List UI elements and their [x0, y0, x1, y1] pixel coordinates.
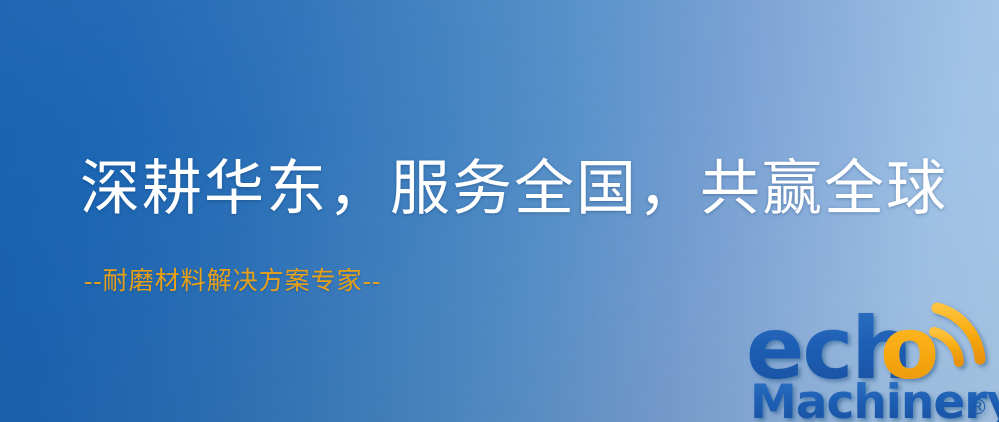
signal-waves-icon — [934, 308, 980, 362]
echo-machinery-logo[interactable]: ech o Machinery ® — [746, 292, 999, 422]
banner-subtitle: --耐磨材料解决方案专家-- — [84, 266, 381, 298]
banner-headline: 深耕华东，服务全国，共赢全球 — [80, 154, 948, 224]
promo-banner: 深耕华东，服务全国，共赢全球 --耐磨材料解决方案专家-- — [0, 0, 999, 422]
logo-text-machinery: Machinery — [750, 375, 999, 422]
logo-registered-mark: ® — [968, 395, 988, 419]
